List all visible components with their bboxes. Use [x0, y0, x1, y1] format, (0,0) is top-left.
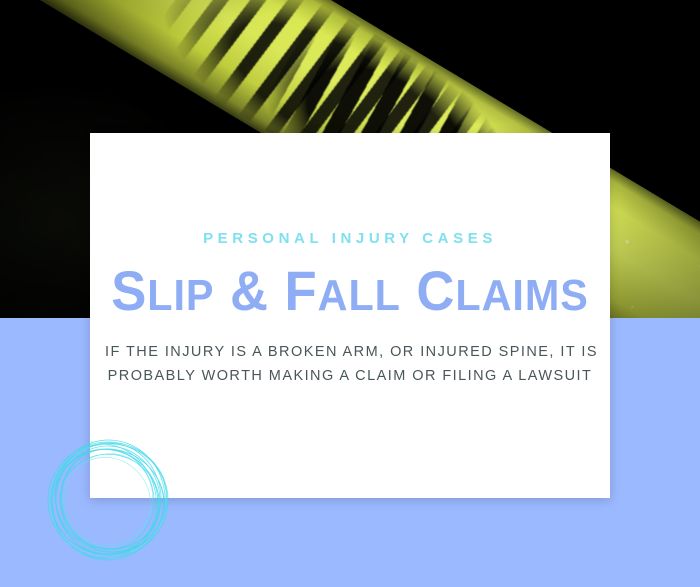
body-copy: IF THE INJURY IS A BROKEN ARM, OR INJURE… [105, 341, 595, 388]
headline-part-all: ALL [318, 271, 401, 320]
eyebrow-text: PERSONAL INJURY CASES [90, 231, 610, 246]
headline-part-f: F [285, 259, 318, 322]
headline-part-laims: LAIMS [455, 271, 588, 320]
card-content: PERSONAL INJURY CASES SLIP & FALL CLAIMS… [90, 231, 610, 388]
headline-part-lip: LIP [147, 271, 214, 320]
content-card: PERSONAL INJURY CASES SLIP & FALL CLAIMS… [90, 133, 610, 498]
page-title: SLIP & FALL CLAIMS [106, 262, 595, 319]
headline-part-c: C [416, 259, 455, 322]
poster-canvas: PERSONAL INJURY CASES SLIP & FALL CLAIMS… [0, 0, 700, 587]
body-copy-line-2: PROBABLY WORTH MAKING A CLAIM OR FILING … [105, 365, 595, 388]
body-copy-line-1: IF THE INJURY IS A BROKEN ARM, OR INJURE… [105, 341, 595, 364]
headline-ampersand: & [230, 259, 269, 322]
headline-part-s: S [111, 259, 147, 322]
